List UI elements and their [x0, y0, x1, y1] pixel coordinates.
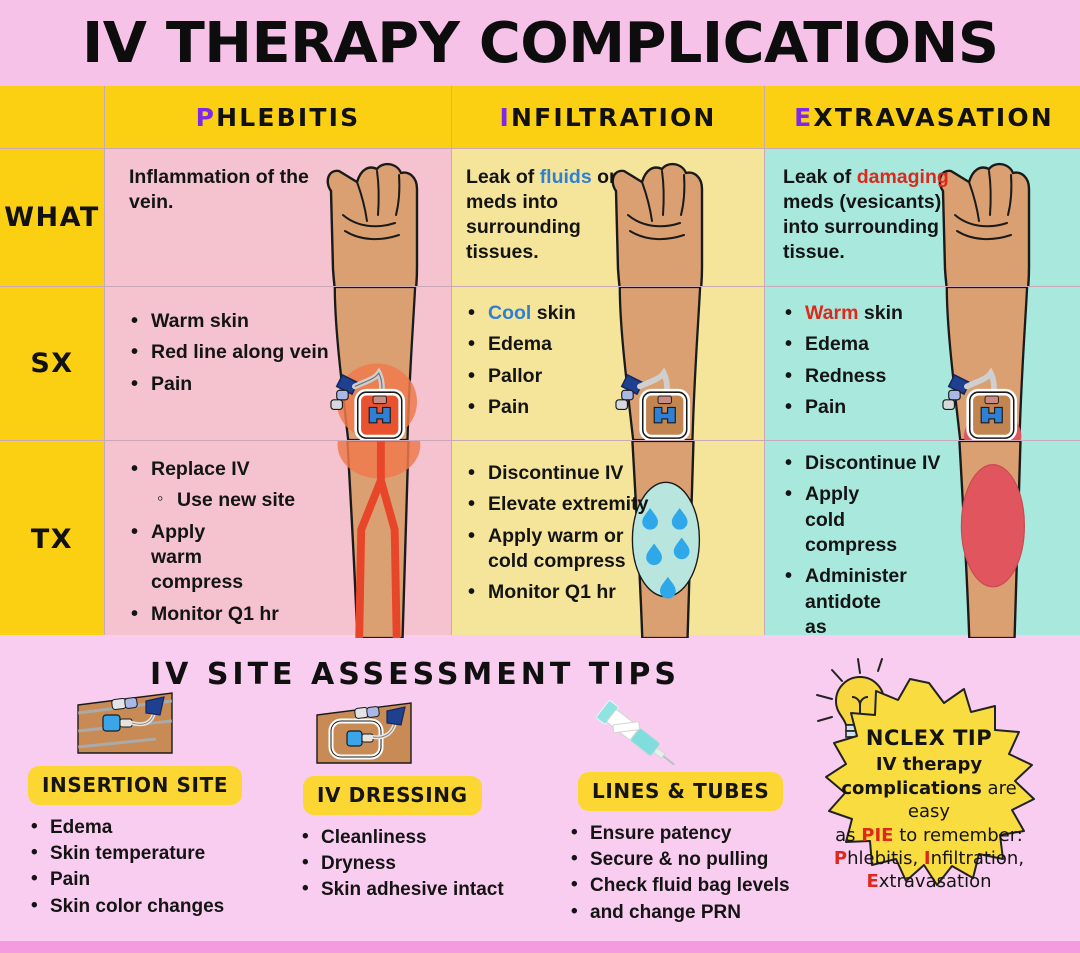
list-item: Skin temperature — [28, 841, 278, 867]
column-header-infiltration: INFILTRATION — [452, 86, 764, 148]
rest-letters: NFILTRATION — [511, 103, 717, 132]
list-item: Edema — [466, 332, 676, 357]
list-item: Cool skin — [466, 301, 676, 326]
list-item-rest: skin — [858, 302, 902, 324]
list-item: Edema — [28, 815, 278, 841]
cap-letter: P — [196, 103, 217, 132]
tx-phlebitis-content: Replace IV Use new site Apply warm compr… — [105, 441, 451, 638]
iv-dressing-illustration — [315, 701, 419, 769]
complications-table: PHLEBITIS INFILTRATION EXTRAVASATION WHA… — [0, 86, 1080, 635]
what-phlebitis-text: Inflammation of the vein. — [129, 165, 334, 215]
tips-section-title: IV SITE ASSESSMENT TIPS — [150, 657, 680, 692]
cell-sx-extravasation: Warm skin Edema Redness Pain — [765, 287, 1080, 440]
list-item: Elevate extremity — [466, 492, 676, 517]
table-corner-cell — [0, 86, 104, 148]
rest-letters: HLEBITIS — [216, 103, 360, 132]
cell-sx-infiltration: Cool skin Edema Pallor Pain — [452, 287, 764, 440]
badge-lines-and-tubes: LINES & TUBES — [578, 772, 783, 811]
list-item: Discontinue IV — [466, 461, 676, 486]
list-item: Edema — [783, 332, 993, 357]
sx-infiltration-content: Cool skin Edema Pallor Pain — [452, 287, 764, 440]
row-label-tx: TX — [0, 441, 104, 638]
list-item: Pain — [28, 867, 278, 893]
list-item: Pain — [466, 395, 676, 420]
sx-extravasation-list: Warm skin Edema Redness Pain — [783, 301, 1073, 420]
iv-insertion-site-illustration — [76, 691, 180, 759]
list-item-continuation: and change PRN — [568, 900, 802, 926]
list-item: Warm skin — [129, 309, 339, 334]
row-label-what-text: WHAT — [4, 202, 100, 233]
list-item: Redness — [783, 364, 993, 389]
badge-insertion-site: INSERTION SITE — [28, 766, 242, 805]
sx-phlebitis-list: Warm skin Red line along vein Pain — [129, 309, 441, 397]
nclex-phlebitis: hlebitis, — [847, 848, 924, 869]
insertion-site-list: Edema Skin temperature Pain Skin color c… — [28, 815, 278, 920]
cap-letter: I — [499, 103, 511, 132]
tx-infiltration-list: Discontinue IV Elevate extremity Apply w… — [466, 461, 754, 606]
what-extravasation-text: Leak of damaging meds (vesicants) into s… — [783, 165, 963, 265]
row-label-sx: SX — [0, 287, 104, 440]
text-post: meds (vesicants) into surrounding tissue… — [783, 191, 941, 263]
tx-phlebitis-list: Replace IV Use new site Apply warm compr… — [129, 457, 441, 627]
cell-tx-phlebitis: Replace IV Use new site Apply warm compr… — [105, 441, 451, 638]
list-item: Dryness — [299, 851, 515, 877]
list-item: Check fluid bag levels — [568, 873, 802, 899]
tip-iv-dressing: IV DRESSING Cleanliness Dryness Skin adh… — [285, 701, 515, 904]
nclex-extravasation: xtravasation — [879, 871, 992, 892]
cell-sx-phlebitis: Warm skin Red line along vein Pain — [105, 287, 451, 440]
text-pre: Leak of — [466, 166, 540, 188]
what-infiltration-content: Leak of fluids or meds into surrounding … — [452, 149, 764, 286]
nclex-letter-i: I — [924, 848, 931, 869]
nclex-tip-callout: NCLEX TIP IV therapy complications are e… — [788, 657, 1070, 929]
nclex-line1: IV therapy — [876, 754, 982, 775]
list-item: Red line along vein — [129, 340, 339, 365]
iv-dressing-list: Cleanliness Dryness Skin adhesive intact — [285, 825, 515, 904]
row-label-sx-text: SX — [30, 348, 73, 379]
list-item-sub: Use new site — [129, 488, 339, 513]
nclex-pie: PIE — [861, 825, 893, 846]
highlight-warm: Warm — [805, 302, 858, 324]
list-item: Apply warm compress — [129, 520, 249, 596]
highlight-cool: Cool — [488, 302, 531, 324]
cell-tx-extravasation: Discontinue IV Apply cold compress Admin… — [765, 441, 1080, 638]
tx-infiltration-content: Discontinue IV Elevate extremity Apply w… — [452, 441, 764, 638]
nclex-line3-post: to remember: — [893, 825, 1022, 846]
nclex-tip-text: NCLEX TIP IV therapy complications are e… — [788, 657, 1070, 929]
tips-section: IV SITE ASSESSMENT TIPS INSERTION SITE E… — [0, 635, 1080, 941]
text-pre: Leak of — [783, 166, 857, 188]
cap-letter: E — [794, 103, 813, 132]
list-item: Skin color changes — [28, 894, 278, 920]
syringe-icon — [582, 693, 690, 769]
list-item: Administer antidote as ordered — [783, 564, 895, 638]
list-item: Pain — [129, 372, 339, 397]
sx-phlebitis-content: Warm skin Red line along vein Pain — [105, 287, 451, 440]
list-item: Apply warm or cold compress — [466, 524, 636, 575]
list-item: Pain — [783, 395, 993, 420]
page-header: IV THERAPY COMPLICATIONS — [0, 0, 1080, 86]
column-header-phlebitis-label: PHLEBITIS — [196, 103, 361, 132]
bottom-accent-strip — [0, 941, 1080, 953]
tip-insertion-site: INSERTION SITE Edema Skin temperature Pa… — [28, 691, 278, 920]
list-item: Skin adhesive intact — [299, 877, 515, 903]
cell-what-extravasation: Leak of damaging meds (vesicants) into s… — [765, 149, 1080, 286]
list-item: Discontinue IV — [783, 451, 993, 476]
nclex-line3-pre: as — [835, 825, 861, 846]
what-extravasation-content: Leak of damaging meds (vesicants) into s… — [765, 149, 1080, 286]
list-item: Apply cold compress — [783, 482, 893, 558]
list-item-rest: skin — [531, 302, 575, 324]
sx-infiltration-list: Cool skin Edema Pallor Pain — [466, 301, 754, 420]
lines-and-tubes-list: Ensure patency Secure & no pulling Check… — [552, 821, 802, 926]
highlight-fluids: fluids — [540, 166, 592, 188]
list-item: Cleanliness — [299, 825, 515, 851]
list-item: Replace IV — [129, 457, 339, 482]
nclex-line2-bold: complications — [841, 778, 982, 799]
column-header-extravasation: EXTRAVASATION — [765, 86, 1080, 148]
nclex-tip-heading: NCLEX TIP — [866, 726, 992, 750]
what-infiltration-text: Leak of fluids or meds into surrounding … — [466, 165, 641, 265]
list-item: Ensure patency — [568, 821, 802, 847]
row-label-tx-text: TX — [31, 524, 73, 555]
nclex-letter-p: P — [834, 848, 847, 869]
list-item: Monitor Q1 hr — [129, 602, 339, 627]
page-title: IV THERAPY COMPLICATIONS — [82, 11, 998, 76]
column-header-infiltration-label: INFILTRATION — [499, 103, 716, 132]
cell-tx-infiltration: Discontinue IV Elevate extremity Apply w… — [452, 441, 764, 638]
nclex-letter-e: E — [866, 871, 878, 892]
tip-lines-and-tubes: LINES & TUBES Ensure patency Secure & no… — [552, 693, 802, 926]
column-header-extravasation-label: EXTRAVASATION — [794, 103, 1054, 132]
tx-extravasation-list: Discontinue IV Apply cold compress Admin… — [783, 451, 1073, 638]
cell-what-infiltration: Leak of fluids or meds into surrounding … — [452, 149, 764, 286]
cell-what-phlebitis: Inflammation of the vein. — [105, 149, 451, 286]
nclex-tip-body: IV therapy complications are easy as PIE… — [822, 753, 1036, 893]
nclex-infiltration: nfiltration, — [931, 848, 1024, 869]
column-header-phlebitis: PHLEBITIS — [105, 86, 451, 148]
list-item: Secure & no pulling — [568, 847, 802, 873]
badge-iv-dressing: IV DRESSING — [303, 776, 482, 815]
highlight-damaging: damaging — [857, 166, 949, 188]
row-label-what: WHAT — [0, 149, 104, 286]
list-item: Monitor Q1 hr — [466, 580, 676, 605]
sx-extravasation-content: Warm skin Edema Redness Pain — [765, 287, 1080, 440]
list-item: Pallor — [466, 364, 676, 389]
tx-extravasation-content: Discontinue IV Apply cold compress Admin… — [765, 441, 1080, 638]
what-phlebitis-content: Inflammation of the vein. — [105, 149, 451, 286]
rest-letters: XTRAVASATION — [813, 103, 1054, 132]
list-item: Warm skin — [783, 301, 993, 326]
